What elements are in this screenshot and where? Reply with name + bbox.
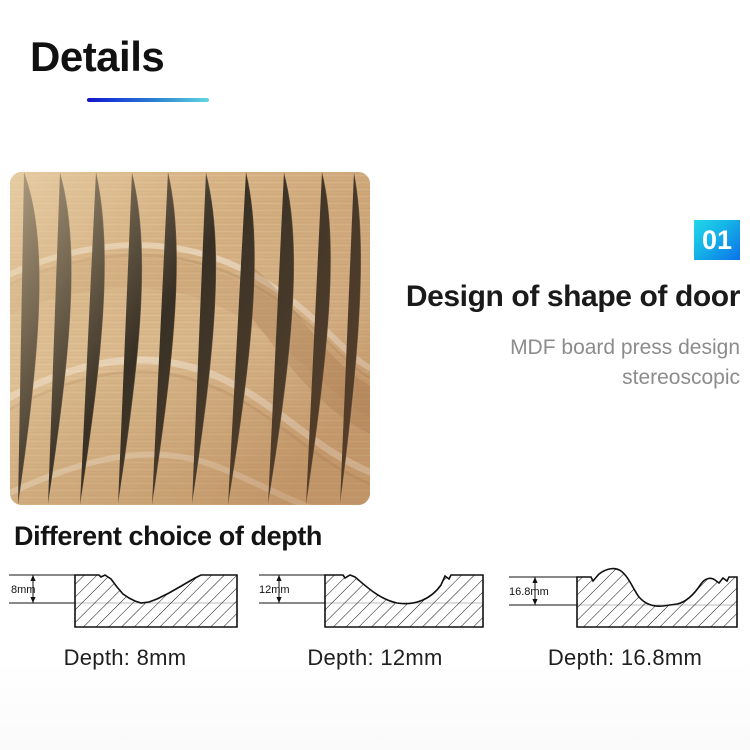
dimension-label-8mm: 8mm: [11, 584, 35, 596]
depth-option-168mm: 16.8mm Depth: 16.8mm: [500, 565, 750, 680]
depth-option-12mm: 12mm Depth: 12mm: [250, 565, 500, 680]
profile-outline-168mm: [577, 569, 737, 627]
step-number-badge: 01: [694, 220, 740, 260]
profile-diagram-168mm: 16.8mm: [505, 565, 745, 637]
depth-caption-8mm: Depth: 8mm: [0, 645, 250, 671]
wood-panel-photo: [10, 172, 370, 505]
depth-section-title: Different choice of depth: [14, 521, 322, 552]
feature-subtitle-line-1: MDF board press design: [390, 333, 740, 363]
page-header: Details: [30, 36, 430, 102]
dimension-arrow-up: [30, 575, 35, 581]
feature-title: Design of shape of door: [390, 280, 740, 315]
depth-options-row: 8mm Depth: 8mm: [0, 565, 750, 680]
feature-subtitle: MDF board press design stereoscopic: [390, 333, 740, 394]
profile-outline-8mm: [75, 575, 237, 627]
dimension-arrow-up: [276, 575, 281, 581]
title-underline-accent: [87, 98, 209, 102]
feature-subtitle-line-2: stereoscopic: [390, 363, 740, 393]
profile-outline-12mm: [325, 575, 483, 627]
dimension-label-12mm: 12mm: [259, 584, 290, 596]
feature-info-block: 01 Design of shape of door MDF board pre…: [390, 220, 740, 393]
depth-caption-12mm: Depth: 12mm: [250, 645, 500, 671]
dimension-arrow-down: [276, 597, 281, 603]
dimension-arrow-up: [532, 577, 537, 583]
profile-diagram-8mm: 8mm: [5, 565, 245, 637]
dimension-arrow-down: [30, 597, 35, 603]
depth-option-8mm: 8mm Depth: 8mm: [0, 565, 250, 680]
dimension-label-168mm: 16.8mm: [509, 586, 549, 598]
profile-diagram-12mm: 12mm: [255, 565, 495, 637]
depth-caption-168mm: Depth: 16.8mm: [500, 645, 750, 671]
dimension-arrow-down: [532, 599, 537, 605]
wood-texture-illustration: [10, 172, 370, 505]
page-root: Details: [0, 0, 750, 750]
page-title: Details: [30, 36, 430, 78]
